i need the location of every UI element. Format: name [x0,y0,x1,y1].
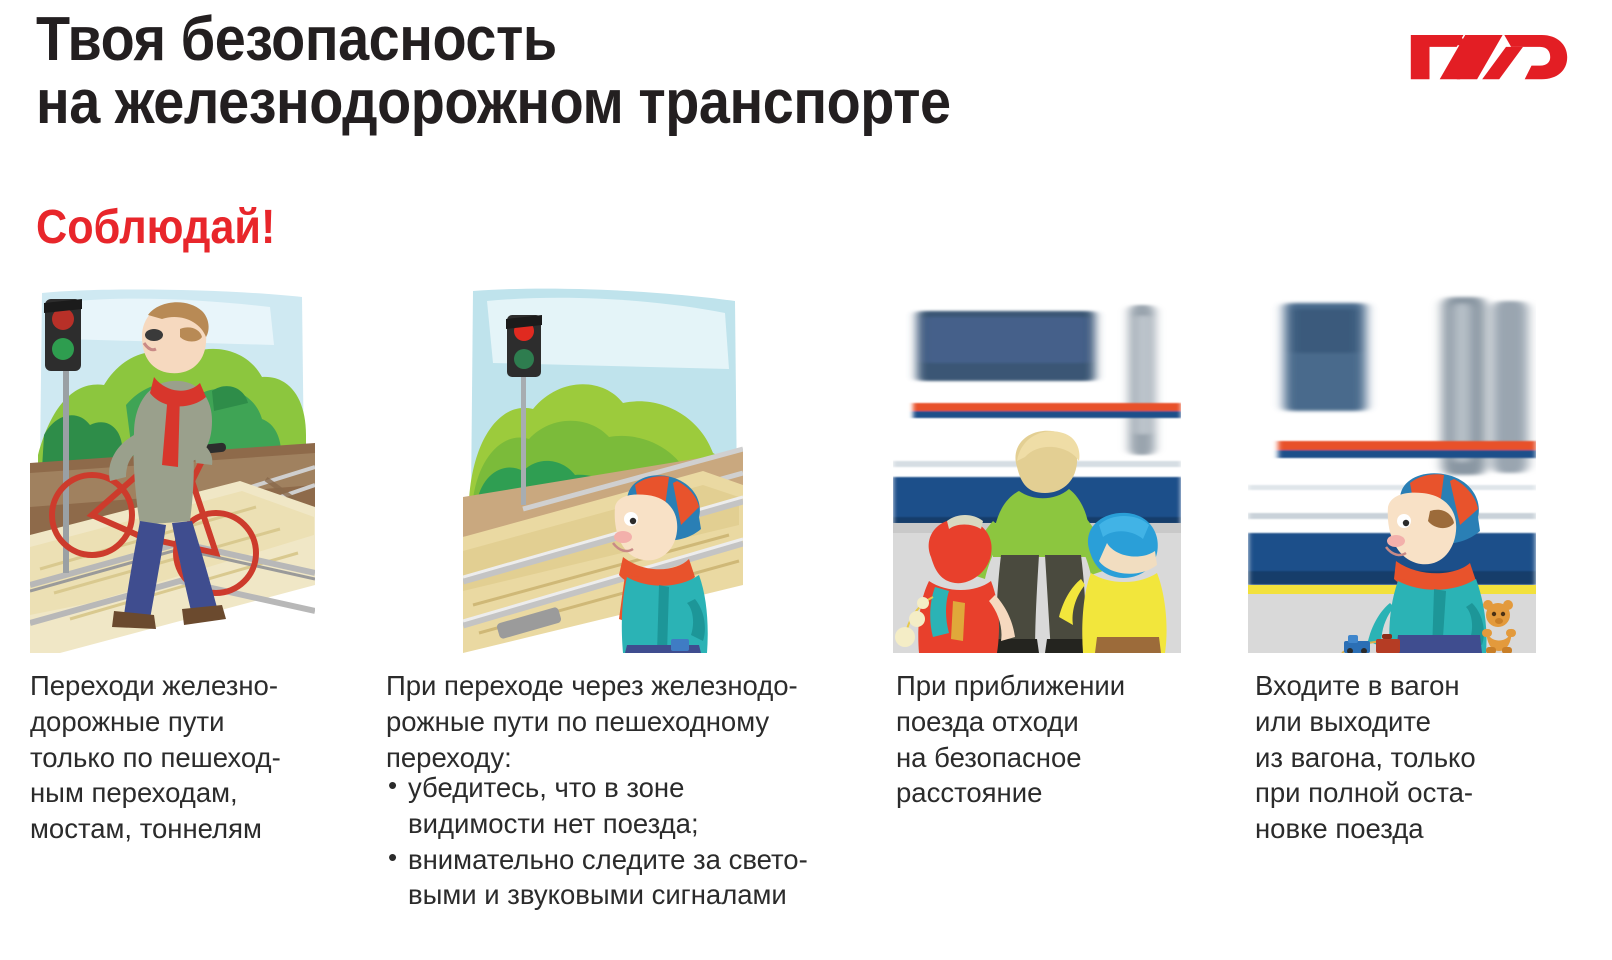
list-item: внимательно следите за свето- выми и зву… [386,842,866,914]
page-title: Твоя безопасность на железнодорожном тра… [36,8,1134,134]
illustration-panel-cyclist [30,285,315,653]
rzd-logo [1404,18,1574,84]
poster-root: Твоя безопасность на железнодорожном тра… [0,0,1612,960]
illustration-panel-safe-distance [893,285,1181,653]
panel-caption-2: При переходе через железнодо- рожные пут… [386,668,866,775]
illustration-panel-boarding [1248,285,1536,653]
illustration-cyclist-at-pedestrian-crossing [30,285,315,653]
panel-caption-4: Входите в вагон или выходите из вагона, … [1255,668,1605,847]
illustration-boy-waiting-for-train-stop [1248,285,1536,653]
list-item: убедитесь, что в зоне видимости нет поез… [386,770,866,842]
panel-2-bullet-list: убедитесь, что в зоне видимости нет поез… [386,770,866,913]
illustration-panel-crossing-signal [463,285,743,653]
panel-caption-3: При приближении поезда отходи на безопас… [896,668,1236,811]
illustration-family-stepping-back-from-train [893,285,1181,653]
illustration-child-watching-red-signal [463,285,743,653]
panel-caption-1: Переходи железно- дорожные пути только п… [30,668,380,847]
section-subtitle: Соблюдай! [36,204,275,252]
